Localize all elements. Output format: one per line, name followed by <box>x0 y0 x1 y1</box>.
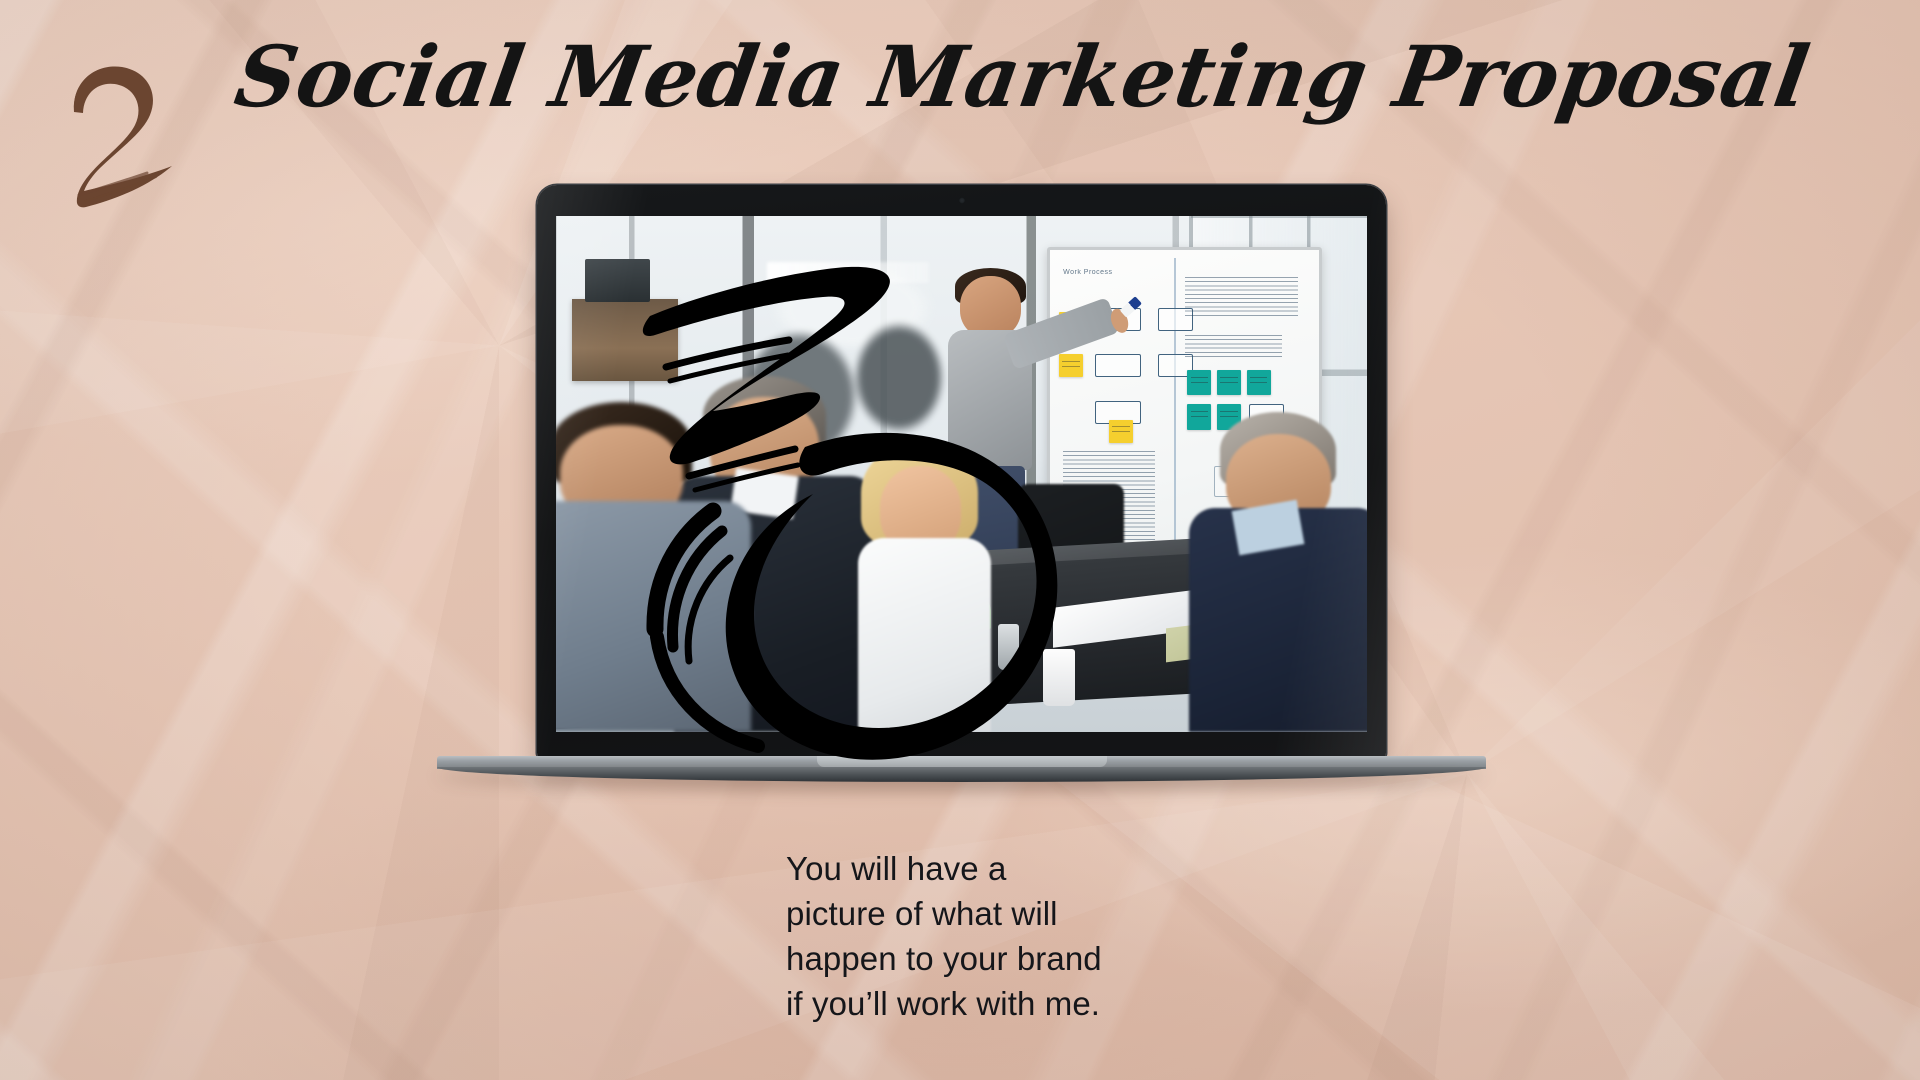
sticky-note <box>1247 370 1271 395</box>
laptop-base <box>437 756 1486 782</box>
body-line-3: happen to your brand <box>786 936 1206 981</box>
body-paragraph: You will have a picture of what will hap… <box>786 846 1206 1026</box>
laptop-screen: Work Process <box>556 216 1367 732</box>
webcam-icon <box>958 197 965 204</box>
laptop-base-notch <box>817 756 1107 767</box>
slide-canvas: Social Media Marketing Proposal Work Pro <box>0 0 1920 1080</box>
laptop-base-bottom <box>437 767 1486 782</box>
body-line-1: You will have a <box>786 846 1206 891</box>
ceiling-light <box>767 262 929 283</box>
office-shelf <box>572 299 677 382</box>
attendee-person <box>1189 412 1367 732</box>
meeting-photo: Work Process <box>556 216 1367 732</box>
sticky-note <box>1217 370 1241 395</box>
whiteboard-notes-mid <box>1185 335 1282 358</box>
laptop-lid: Work Process <box>537 185 1386 758</box>
attendee-body <box>858 538 991 732</box>
page-title-text: Social Media Marketing Proposal <box>229 27 1815 125</box>
whiteboard-notes-top <box>1185 277 1298 319</box>
presenter-head <box>960 276 1021 338</box>
attendee-person <box>848 443 1010 732</box>
laptop-mockup: Work Process <box>537 185 1386 785</box>
page-title: Social Media Marketing Proposal <box>0 14 1920 154</box>
attendee-body <box>556 501 751 732</box>
coffee-cup <box>1043 649 1075 706</box>
body-line-4: if you’ll work with me. <box>786 981 1206 1026</box>
body-line-2: picture of what will <box>786 891 1206 936</box>
sticky-note <box>1187 370 1211 395</box>
attendee-person <box>556 402 751 732</box>
